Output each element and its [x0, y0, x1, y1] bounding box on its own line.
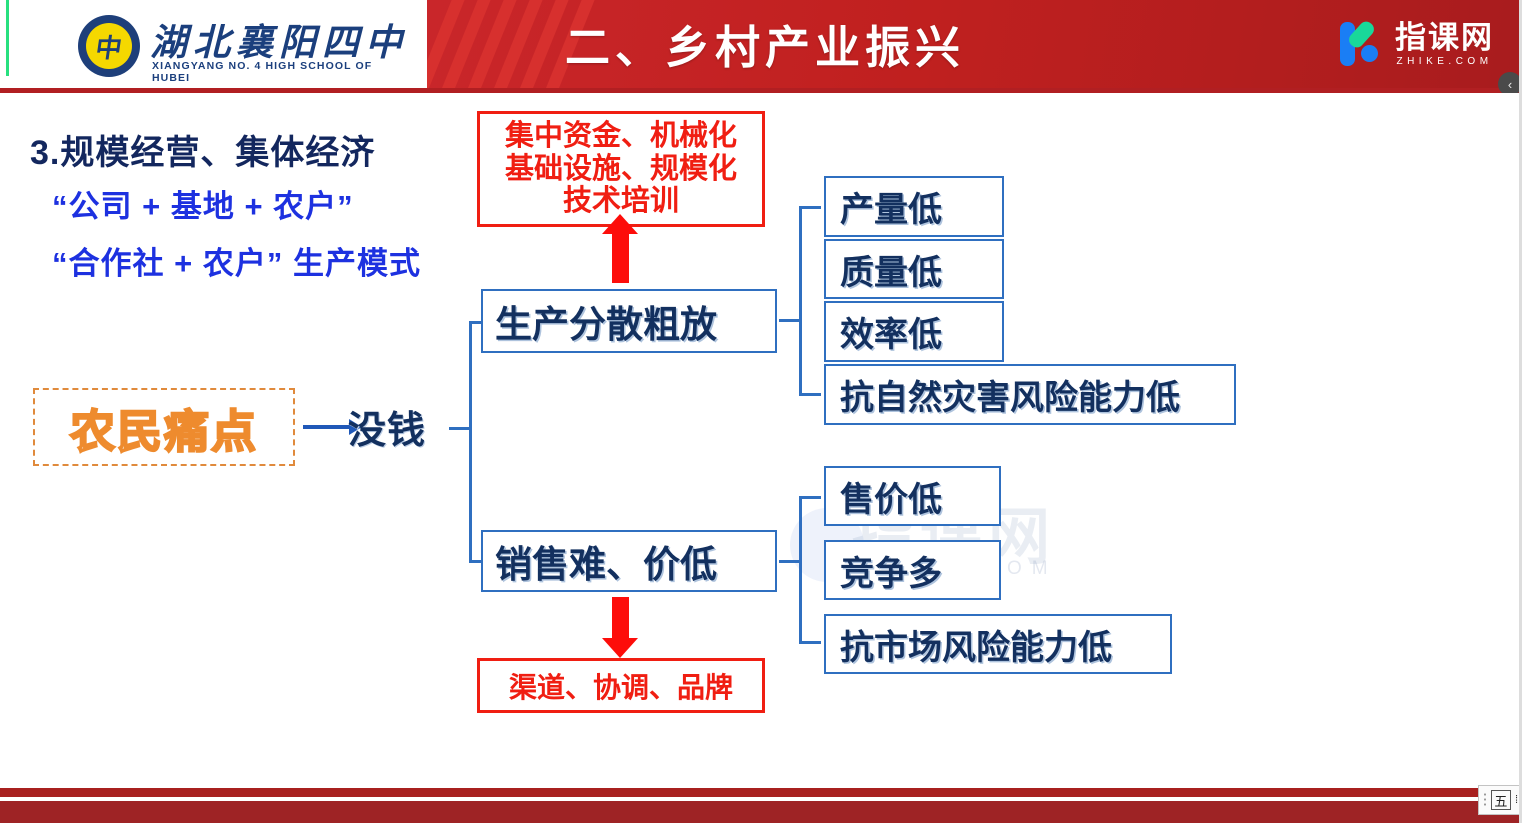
school-logo: 中 湖北襄阳四中 XIANGYANG NO. 4 HIGH SCHOOL OF … — [78, 10, 408, 80]
solution-box-sales: 渠道、协调、品牌 — [477, 658, 765, 713]
page-title: 二、乡村产业振兴 — [565, 11, 965, 76]
leaf-box-natural-disaster: 抗自然灾害风险能力低 — [824, 364, 1236, 425]
leaf-box-quality: 质量低 — [824, 239, 1004, 299]
crest-glyph: 中 — [93, 28, 124, 65]
arrow-down-icon — [612, 597, 629, 639]
ime-extra-icon[interactable]: ⁞ — [1515, 795, 1518, 806]
slide-subheading-2: “合作社 + 农户” 生产模式 — [52, 238, 421, 283]
connector-root-stem — [449, 427, 471, 430]
connector-sales-vertical — [799, 496, 802, 644]
bottom-white-band — [0, 765, 1522, 788]
slide-canvas: 指课网 ZHIKE.COM 3.规模经营、集体经济 “公司 + 基地 + 农户”… — [0, 93, 1522, 765]
brand-name-cn: 指课网 — [1395, 22, 1494, 53]
bottom-red-band-2 — [0, 801, 1522, 823]
connector-production-top — [799, 206, 821, 209]
leaf-box-market-risk: 抗市场风险能力低 — [824, 614, 1172, 674]
screen: 中 湖北襄阳四中 XIANGYANG NO. 4 HIGH SCHOOL OF … — [0, 0, 1522, 823]
ime-toolbar[interactable]: 五 ⁞ — [1478, 785, 1522, 815]
slide-header: 中 湖北襄阳四中 XIANGYANG NO. 4 HIGH SCHOOL OF … — [0, 0, 1522, 88]
painpoint-to-root-arrow-icon — [303, 425, 351, 429]
ime-mode-key[interactable]: 五 — [1491, 790, 1511, 810]
leaf-box-competition: 竞争多 — [824, 540, 1001, 600]
school-name-en: XIANGYANG NO. 4 HIGH SCHOOL OF HUBEI — [152, 60, 408, 84]
zhike-k-icon — [1334, 18, 1386, 70]
branch-box-sales: 销售难、价低 — [481, 530, 777, 592]
slide-subheading-1: “公司 + 基地 + 农户” — [52, 181, 354, 226]
connector-sales-stem — [779, 560, 801, 563]
painpoint-label: 农民痛点 — [70, 395, 258, 460]
school-crest-icon: 中 — [78, 15, 140, 77]
slide-heading: 3.规模经营、集体经济 — [30, 125, 375, 174]
leaf-box-yield: 产量低 — [824, 176, 1004, 237]
solution-sales-line-1: 渠道、协调、品牌 — [509, 666, 733, 706]
arrow-up-icon — [612, 233, 629, 283]
solution-line-1: 集中资金、机械化 — [505, 120, 737, 152]
player-edge-strip-left-top — [6, 0, 9, 76]
school-name-cn: 湖北襄阳四中 — [150, 12, 408, 66]
solution-box-production: 集中资金、机械化 基础设施、规模化 技术培训 — [477, 111, 765, 227]
connector-production-stem — [779, 319, 801, 322]
leaf-box-efficiency: 效率低 — [824, 301, 1004, 362]
bottom-red-band-1 — [0, 788, 1522, 797]
connector-root-vertical — [469, 321, 472, 563]
solution-line-2: 基础设施、规模化 — [505, 153, 737, 185]
ime-drag-handle-icon[interactable] — [1483, 792, 1487, 808]
connector-sales-bottom — [799, 641, 821, 644]
root-node-label: 没钱 — [348, 399, 426, 454]
leaf-box-low-price: 售价低 — [824, 466, 1001, 526]
brand-name-en: ZHIKE.COM — [1395, 57, 1494, 67]
connector-sales-top — [799, 496, 821, 499]
branch-box-production: 生产分散粗放 — [481, 289, 777, 353]
brand-logo[interactable]: 指课网 ZHIKE.COM — [1334, 16, 1494, 72]
connector-production-bottom — [799, 393, 821, 396]
solution-line-3: 技术培训 — [563, 185, 679, 217]
painpoint-box: 农民痛点 — [33, 388, 295, 466]
connector-production-vertical — [799, 206, 802, 396]
